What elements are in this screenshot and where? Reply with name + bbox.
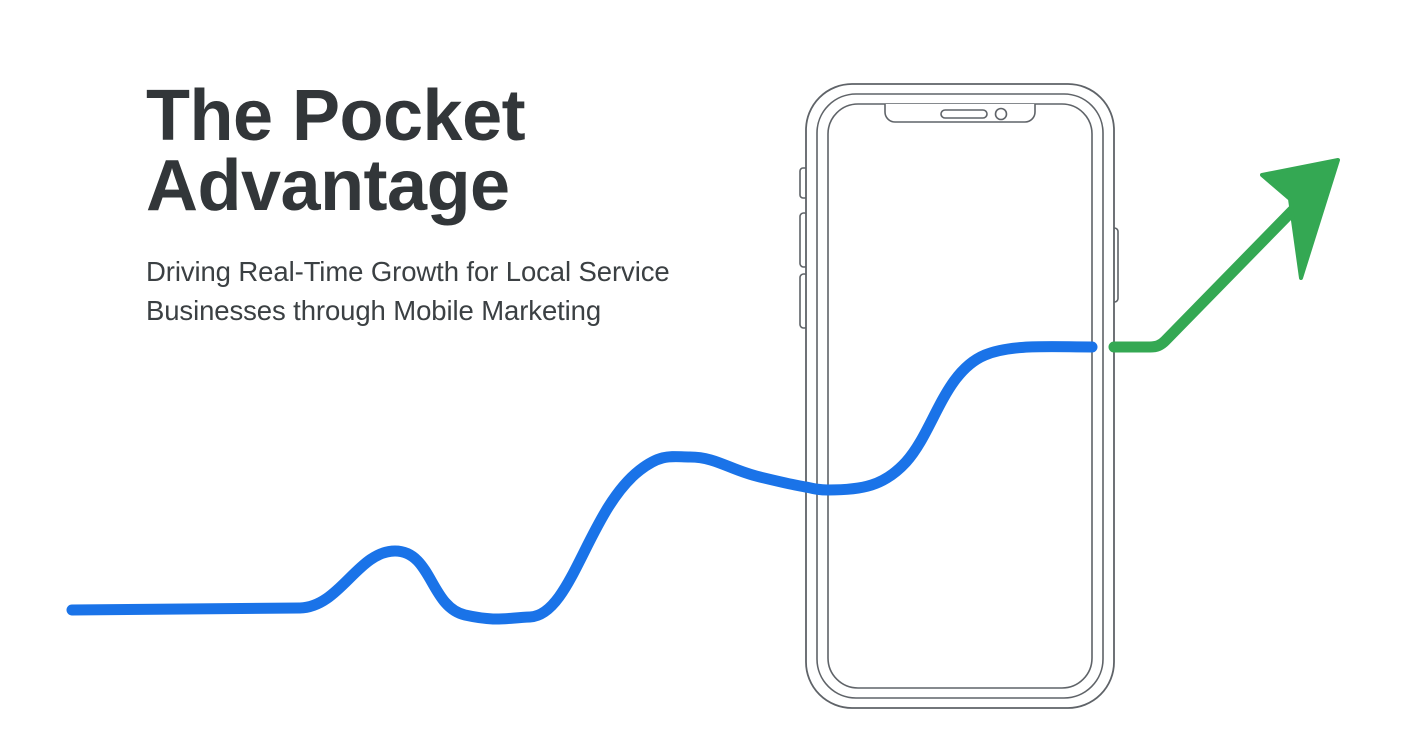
page-subtitle: Driving Real-Time Growth for Local Servi… bbox=[146, 222, 766, 330]
hero-text-block: The Pocket Advantage Driving Real-Time G… bbox=[146, 82, 766, 330]
upward-growth-arrow bbox=[1114, 160, 1338, 347]
front-camera-icon bbox=[996, 109, 1007, 120]
hero-banner: The Pocket Advantage Driving Real-Time G… bbox=[0, 0, 1417, 743]
growth-curve-outer bbox=[72, 457, 828, 619]
smartphone-mockup bbox=[800, 84, 1118, 708]
page-title: The Pocket Advantage bbox=[146, 82, 766, 222]
arrowhead-icon bbox=[1262, 160, 1338, 278]
earpiece-speaker-icon bbox=[941, 110, 987, 118]
device-screen bbox=[828, 104, 1092, 688]
